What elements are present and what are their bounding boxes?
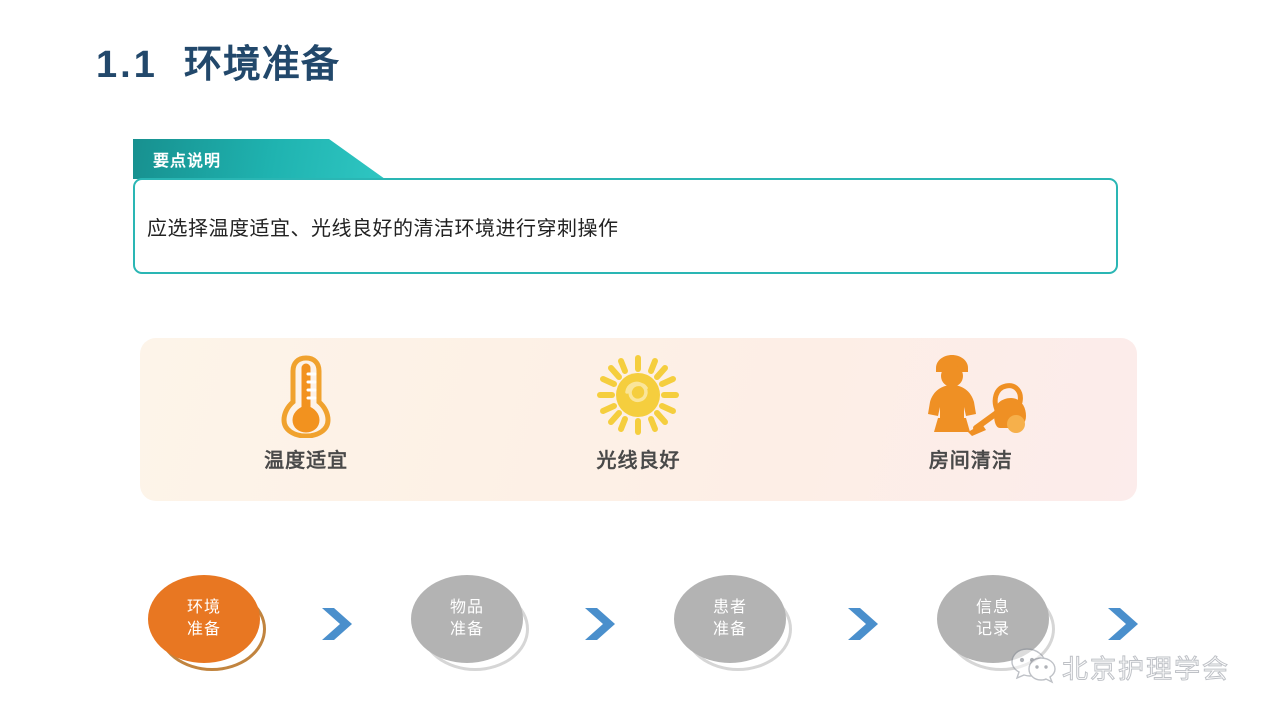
- flow-arrow-icon: [583, 605, 619, 643]
- callout-box: 应选择温度适宜、光线良好的清洁环境进行穿刺操作: [133, 178, 1118, 274]
- flow-step-body: 患者 准备: [674, 575, 786, 663]
- flow-step-label-line1: 物品: [450, 597, 484, 619]
- flow-step-label-line1: 信息: [976, 597, 1010, 619]
- flow-step-label-line1: 患者: [713, 597, 747, 619]
- flow-step-label-line1: 环境: [187, 597, 221, 619]
- flow-step-huanjing[interactable]: 环境 准备: [148, 575, 268, 671]
- flow-step-label-line2: 准备: [713, 619, 747, 641]
- sun-icon: [588, 352, 688, 438]
- flow-step-body: 物品 准备: [411, 575, 523, 663]
- flow-step-huanzhe[interactable]: 患者 准备: [674, 575, 794, 671]
- cleaning-vacuum-icon: [916, 352, 1026, 438]
- flow-step-wupin[interactable]: 物品 准备: [411, 575, 531, 671]
- flow-arrow-icon: [320, 605, 356, 643]
- page-title-text: 环境准备: [184, 44, 340, 86]
- feature-label: 光线良好: [596, 444, 680, 473]
- thermometer-icon: [274, 352, 338, 438]
- page-title: 1.1环境准备: [96, 33, 340, 88]
- feature-label: 温度适宜: [264, 444, 348, 473]
- feature-item-temperature: 温度适宜: [140, 338, 472, 501]
- flow-step-body: 环境 准备: [148, 575, 260, 663]
- flow-arrow-icon: [846, 605, 882, 643]
- callout-banner: 要点说明: [133, 139, 385, 179]
- feature-label: 房间清洁: [929, 444, 1013, 473]
- feature-panel: 温度适宜: [140, 338, 1137, 501]
- wechat-icon: [1010, 645, 1056, 690]
- watermark: 北京护理学会: [1010, 645, 1230, 690]
- flow-arrow-icon: [1106, 605, 1142, 643]
- flow-step-label-line2: 准备: [450, 619, 484, 641]
- process-flow: 环境 准备 物品 准备 患者 准备: [148, 575, 1148, 685]
- flow-step-label-line2: 记录: [976, 619, 1010, 641]
- callout-banner-label: 要点说明: [153, 147, 221, 171]
- watermark-text: 北京护理学会: [1062, 649, 1230, 686]
- callout-block: 要点说明 应选择温度适宜、光线良好的清洁环境进行穿刺操作: [133, 139, 1122, 278]
- flow-step-label-line2: 准备: [187, 619, 221, 641]
- feature-item-light: 光线良好: [472, 338, 804, 501]
- slide-canvas: 1.1环境准备 要点说明 应选择温度适宜、光线良好的清洁环境进行穿刺操作: [0, 0, 1280, 719]
- callout-body-text: 应选择温度适宜、光线良好的清洁环境进行穿刺操作: [147, 212, 619, 241]
- feature-item-cleanliness: 房间清洁: [805, 338, 1137, 501]
- page-title-number: 1.1: [96, 44, 158, 86]
